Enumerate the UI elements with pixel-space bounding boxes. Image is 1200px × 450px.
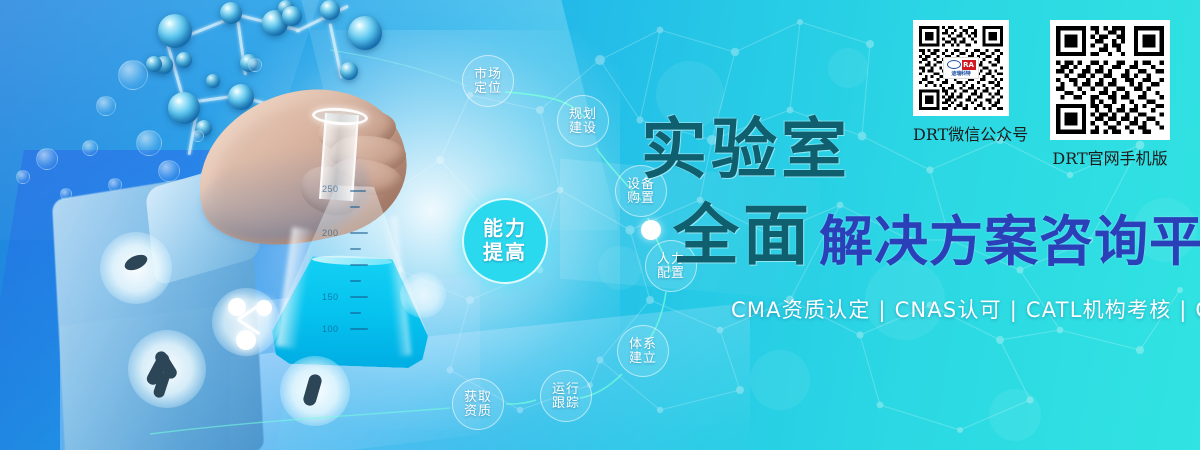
headline-secondary-row: 全面 解决方案咨询平台: [641, 182, 1200, 278]
qr-caption-wechat: DRT微信公众号: [913, 121, 1028, 145]
bullet-dot-icon: [641, 220, 661, 240]
qr-logo-marks: RA: [947, 59, 976, 70]
qr-caption-mobile-site: DRT官网手机版: [1050, 145, 1170, 169]
certification-subline: CMA资质认定 | CNAS认可 | CATL机构考核 | GCP认证 | 6S…: [731, 294, 1200, 324]
company-logo-text: 迪瑞科特: [951, 70, 970, 77]
headline-secondary-dark: 全面: [673, 182, 813, 278]
headline-secondary-blue: 解决方案咨询平台: [819, 197, 1200, 276]
cma-badge-icon: RA: [962, 60, 976, 70]
qr-code-image[interactable]: RA 迪瑞科特: [913, 20, 1009, 116]
qr-code-mobile-website[interactable]: DRT官网手机版: [1050, 20, 1170, 169]
qr-embedded-logo: RA 迪瑞科特: [943, 57, 979, 79]
headline-primary: 实验室: [641, 96, 851, 192]
qr-code-wechat-official-account[interactable]: RA 迪瑞科特 DRT微信公众号: [913, 20, 1028, 145]
cnas-oval-icon: [947, 60, 961, 69]
laboratory-solution-banner: 250 200 150 100: [0, 0, 1200, 450]
qr-code-image[interactable]: [1050, 20, 1170, 140]
